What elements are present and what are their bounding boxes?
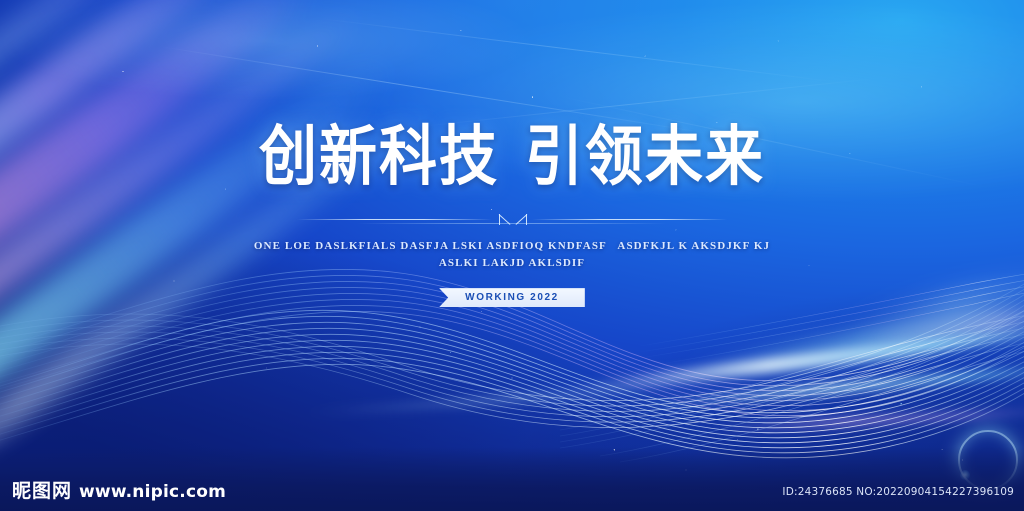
- title-secondary: 引领未来: [525, 120, 765, 193]
- badge-left-notch-icon: [432, 292, 439, 304]
- badge-container: WORKING 2022: [0, 288, 1024, 307]
- nipic-logo: 昵图网: [12, 482, 72, 501]
- subtitle-line-2: ASLKI LAKJD AKLSDIF: [0, 255, 1024, 272]
- chevron-down-icon: [499, 214, 527, 225]
- badge-right-notch-icon: [585, 292, 592, 304]
- poster-content: 创新科技引领未来 ONE LOE DASLKFIALS DASFJA LSKI …: [0, 128, 1024, 307]
- asset-id-text: ID:24376685 NO:20220904154227396109: [782, 486, 1014, 498]
- badge-label: WORKING 2022: [465, 292, 559, 303]
- divider: [297, 212, 727, 226]
- subtitle: ONE LOE DASLKFIALS DASFJA LSKI ASDFIOQ K…: [0, 238, 1024, 272]
- nipic-url: www.nipic.com: [79, 484, 226, 501]
- watermark: 昵图网 www.nipic.com: [12, 482, 226, 501]
- poster-canvas: 创新科技引领未来 ONE LOE DASLKFIALS DASFJA LSKI …: [0, 0, 1024, 511]
- status-badge: WORKING 2022: [439, 288, 585, 307]
- page-title: 创新科技引领未来: [0, 125, 1024, 190]
- subtitle-line-1: ONE LOE DASLKFIALS DASFJA LSKI ASDFIOQ K…: [0, 238, 1024, 255]
- title-main: 创新科技: [259, 120, 499, 193]
